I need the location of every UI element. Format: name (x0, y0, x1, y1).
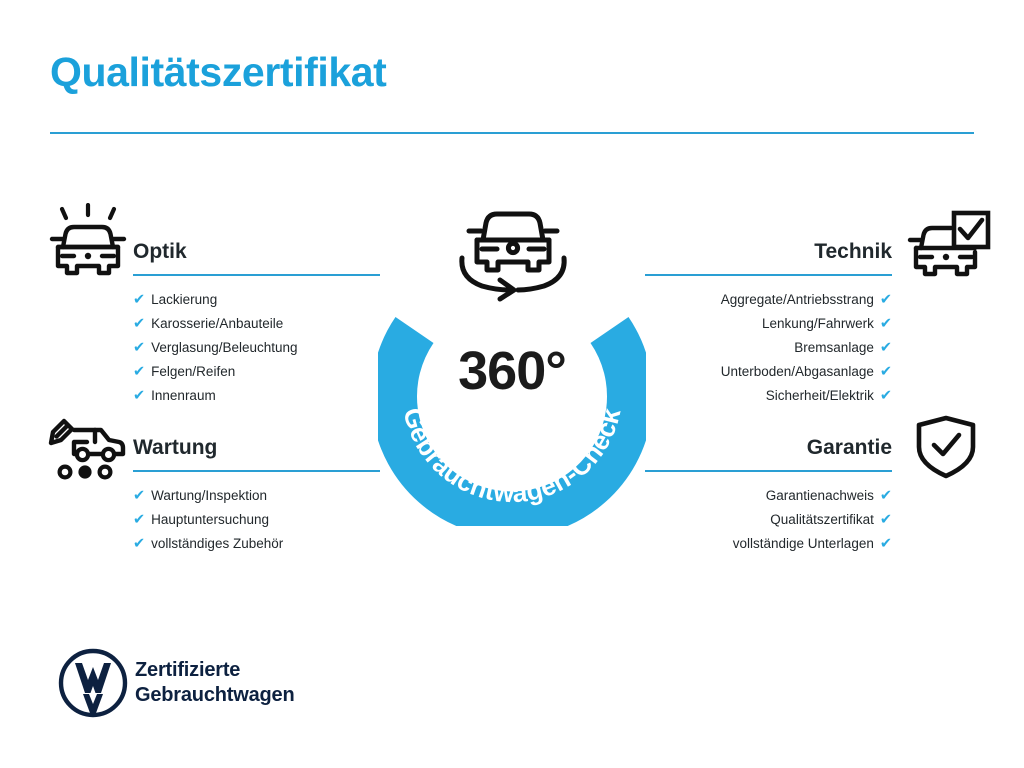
check-icon: ✔ (880, 536, 892, 552)
vw-wordmark-line1: Zertifizierte (135, 658, 294, 683)
section-title: Technik (645, 238, 892, 266)
title-divider (50, 132, 974, 134)
check-icon: ✔ (133, 488, 145, 504)
list-item-label: Bremsanlage (794, 340, 874, 355)
vw-wordmark-line2: Gebrauchtwagen (135, 683, 294, 708)
shield-check-icon (911, 414, 981, 480)
check-icon: ✔ (133, 388, 145, 404)
list-item: Qualitätszertifikat✔ (645, 508, 892, 532)
check-icon: ✔ (133, 364, 145, 380)
check-icon: ✔ (133, 340, 145, 356)
list-item: vollständige Unterlagen✔ (645, 532, 892, 556)
checklist-wartung: ✔Wartung/Inspektion ✔Hauptuntersuchung ✔… (133, 484, 380, 556)
section-divider (133, 274, 380, 276)
section-garantie: Garantie Garantienachweis✔ Qualitätszert… (645, 434, 892, 556)
check-icon: ✔ (880, 388, 892, 404)
vw-wordmark: Zertifizierte Gebrauchtwagen (135, 658, 294, 708)
car-front-checkbox-icon (903, 208, 991, 282)
check-icon: ✔ (133, 536, 145, 552)
list-item: ✔Hauptuntersuchung (133, 508, 380, 532)
section-divider (645, 274, 892, 276)
checklist-technik: Aggregate/Antriebsstrang✔ Lenkung/Fahrwe… (645, 288, 892, 408)
section-wartung: Wartung ✔Wartung/Inspektion ✔Hauptunters… (133, 434, 380, 556)
car-front-shine-icon (47, 203, 129, 281)
vw-logo (57, 647, 129, 719)
list-item-label: vollständige Unterlagen (733, 536, 874, 551)
section-optik: Optik ✔Lackierung ✔Karosserie/Anbauteile… (133, 238, 380, 408)
list-item: ✔Karosserie/Anbauteile (133, 312, 380, 336)
list-item-label: Verglasung/Beleuchtung (151, 340, 297, 355)
section-title: Wartung (133, 434, 380, 462)
list-item: ✔vollständiges Zubehör (133, 532, 380, 556)
section-divider (645, 470, 892, 472)
section-title: Garantie (645, 434, 892, 462)
list-item-label: Karosserie/Anbauteile (151, 316, 283, 331)
list-item-label: vollständiges Zubehör (151, 536, 283, 551)
check-icon: ✔ (880, 488, 892, 504)
section-header-optik: Optik (133, 238, 380, 276)
list-item: Lenkung/Fahrwerk✔ (645, 312, 892, 336)
check-icon: ✔ (880, 292, 892, 308)
list-item-label: Aggregate/Antriebsstrang (721, 292, 874, 307)
list-item: Garantienachweis✔ (645, 484, 892, 508)
car-service-pencil-icon (47, 414, 129, 480)
list-item: ✔Verglasung/Beleuchtung (133, 336, 380, 360)
list-item-label: Garantienachweis (766, 488, 874, 503)
list-item-label: Hauptuntersuchung (151, 512, 269, 527)
checklist-garantie: Garantienachweis✔ Qualitätszertifikat✔ v… (645, 484, 892, 556)
list-item-label: Lenkung/Fahrwerk (762, 316, 874, 331)
list-item: ✔Felgen/Reifen (133, 360, 380, 384)
list-item-label: Wartung/Inspektion (151, 488, 267, 503)
section-header-garantie: Garantie (645, 434, 892, 472)
list-item: Aggregate/Antriebsstrang✔ (645, 288, 892, 312)
list-item: ✔Lackierung (133, 288, 380, 312)
check-icon: ✔ (880, 512, 892, 528)
check-icon: ✔ (880, 364, 892, 380)
list-item: Unterboden/Abgasanlage✔ (645, 360, 892, 384)
list-item-label: Felgen/Reifen (151, 364, 235, 379)
section-technik: Technik Aggregate/Antriebsstrang✔ Lenkun… (645, 238, 892, 408)
section-header-wartung: Wartung (133, 434, 380, 472)
list-item: Sicherheit/Elektrik✔ (645, 384, 892, 408)
list-item-label: Unterboden/Abgasanlage (721, 364, 874, 379)
section-header-technik: Technik (645, 238, 892, 276)
page-title: Qualitätszertifikat (50, 50, 386, 95)
check-icon: ✔ (133, 316, 145, 332)
section-divider (133, 470, 380, 472)
list-item: ✔Innenraum (133, 384, 380, 408)
list-item: Bremsanlage✔ (645, 336, 892, 360)
list-item: ✔Wartung/Inspektion (133, 484, 380, 508)
section-title: Optik (133, 238, 380, 266)
list-item-label: Lackierung (151, 292, 217, 307)
list-item-label: Qualitätszertifikat (770, 512, 874, 527)
check-icon: ✔ (133, 292, 145, 308)
list-item-label: Innenraum (151, 388, 216, 403)
check-icon: ✔ (880, 340, 892, 356)
car-front-rotate-icon (452, 196, 574, 304)
check-icon: ✔ (880, 316, 892, 332)
list-item-label: Sicherheit/Elektrik (766, 388, 874, 403)
check-icon: ✔ (133, 512, 145, 528)
checklist-optik: ✔Lackierung ✔Karosserie/Anbauteile ✔Verg… (133, 288, 380, 408)
